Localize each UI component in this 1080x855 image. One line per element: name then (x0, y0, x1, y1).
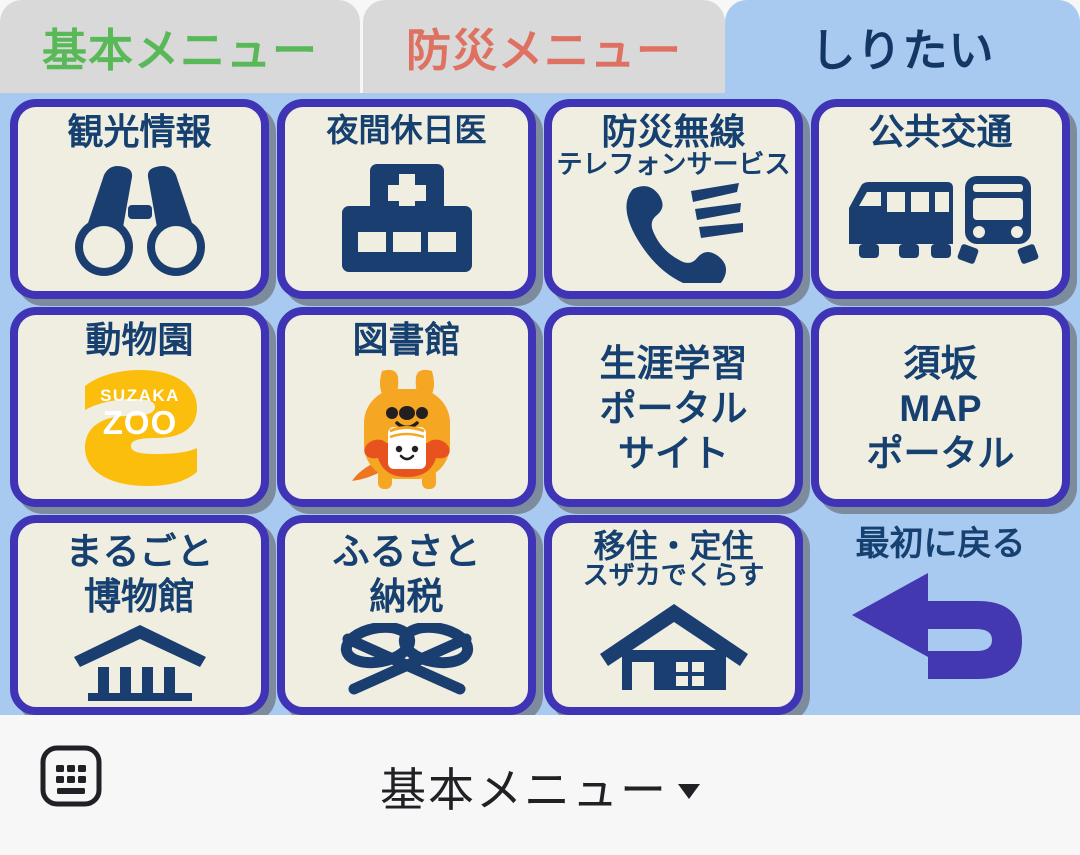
tile-line: まるごと (66, 529, 214, 574)
tab-bar: 基本メニュー 防災メニュー しりたい (0, 0, 1080, 95)
tile-subtitle: スザカでくらす (583, 562, 764, 589)
tile-line: 生涯学習 (600, 341, 748, 386)
tile-title: 防災無線 (601, 113, 745, 152)
tile-night-holiday-clinic[interactable]: 夜間休日医 (277, 99, 536, 299)
tab-label: 基本メニュー (42, 14, 318, 79)
tile-line: MAP (867, 386, 1015, 431)
app-root: 基本メニュー 防災メニュー しりたい 観光情報 (0, 0, 1080, 855)
tile-title: 観光情報 (67, 113, 211, 152)
bottom-menu-selector[interactable]: 基本メニュー (0, 754, 1080, 820)
tile-disaster-radio-telephone-service[interactable]: 防災無線 テレフォンサービス (544, 99, 803, 299)
tile-text-block: 須坂 MAP ポータル (823, 322, 1058, 495)
tile-immigration-settlement[interactable]: 移住・定住 スザカでくらす (544, 515, 803, 715)
tile-text-block: ふるさと 納税 (333, 529, 481, 619)
tile-title: 夜間休日医 (326, 113, 486, 147)
kangaroo-mascot-icon (289, 361, 524, 495)
tab-basic-menu[interactable]: 基本メニュー (0, 0, 360, 93)
keyboard-icon[interactable] (40, 745, 102, 812)
binoculars-icon (22, 153, 257, 287)
tile-line: サイト (600, 431, 748, 476)
tab-label: 防災メニュー (406, 14, 682, 79)
tile-title: 図書館 (352, 321, 460, 360)
museum-icon (22, 620, 257, 703)
tile-line: 博物館 (66, 574, 214, 619)
tile-whole-town-museum[interactable]: まるごと 博物館 (10, 515, 269, 715)
bottom-menu-label: 基本メニュー (380, 754, 668, 820)
zoo-logo-bottom-text: ZOO (102, 404, 177, 441)
tile-public-transport[interactable]: 公共交通 (811, 99, 1070, 299)
content-area: 観光情報 夜間 (0, 93, 1080, 715)
back-uturn-arrow-icon (846, 567, 1036, 692)
back-to-start-button[interactable]: 最初に戻る (811, 515, 1070, 715)
tile-text-block: 生涯学習 ポータル サイト (556, 322, 791, 495)
tile-zoo[interactable]: 動物園 SUZAKA ZOO (10, 307, 269, 507)
tile-tourism-info[interactable]: 観光情報 (10, 99, 269, 299)
ringing-phone-icon (556, 179, 791, 287)
tile-text-block: まるごと 博物館 (66, 529, 214, 619)
tile-lifelong-learning-portal[interactable]: 生涯学習 ポータル サイト (544, 307, 803, 507)
tile-title: 移住・定住 (593, 529, 753, 563)
caret-down-icon (678, 784, 700, 799)
tab-disaster-menu[interactable]: 防災メニュー (363, 0, 725, 93)
bus-train-icon (823, 153, 1058, 287)
tile-title: 動物園 (85, 321, 193, 360)
bottom-bar: 基本メニュー (0, 715, 1080, 855)
house-icon (556, 591, 791, 703)
tile-hometown-tax[interactable]: ふるさと 納税 (277, 515, 536, 715)
hospital-icon (289, 148, 524, 287)
suzaka-zoo-logo-icon: SUZAKA ZOO (22, 361, 257, 495)
ribbon-bow-icon (289, 620, 524, 703)
tile-suzaka-map-portal[interactable]: 須坂 MAP ポータル (811, 307, 1070, 507)
tile-line: 納税 (333, 574, 481, 619)
zoo-logo-top-text: SUZAKA (100, 386, 180, 405)
tile-line: ふるさと (333, 529, 481, 574)
tile-subtitle: テレフォンサービス (556, 151, 790, 178)
tab-label: しりたい (810, 14, 994, 79)
tab-shiritai[interactable]: しりたい (725, 0, 1080, 93)
tile-title: 公共交通 (868, 113, 1012, 152)
tile-line: ポータル (600, 386, 748, 431)
tile-line: 須坂 (867, 341, 1015, 386)
tile-grid: 観光情報 夜間 (0, 93, 1080, 715)
tile-library[interactable]: 図書館 (277, 307, 536, 507)
tile-line: ポータル (867, 431, 1015, 476)
back-to-start-label: 最初に戻る (856, 527, 1026, 561)
